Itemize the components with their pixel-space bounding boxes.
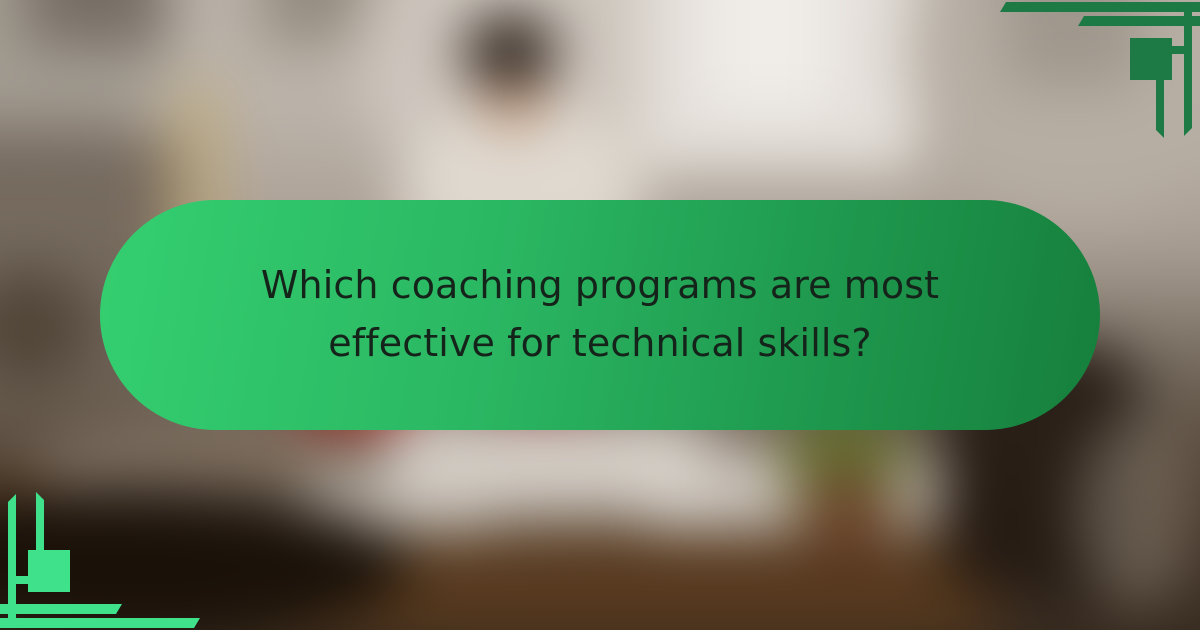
bg-shelf-object <box>28 0 166 45</box>
question-card: Which coaching programs are most effecti… <box>100 200 1100 430</box>
question-text: Which coaching programs are most effecti… <box>200 257 1000 373</box>
screenshot-canvas: Which coaching programs are most effecti… <box>0 0 1200 630</box>
bg-frame-right <box>1003 0 1141 87</box>
bg-plant-pot <box>796 469 897 543</box>
bg-chair-right <box>1077 416 1194 607</box>
bg-person-hair <box>462 13 557 89</box>
bg-window-pane <box>706 0 833 108</box>
